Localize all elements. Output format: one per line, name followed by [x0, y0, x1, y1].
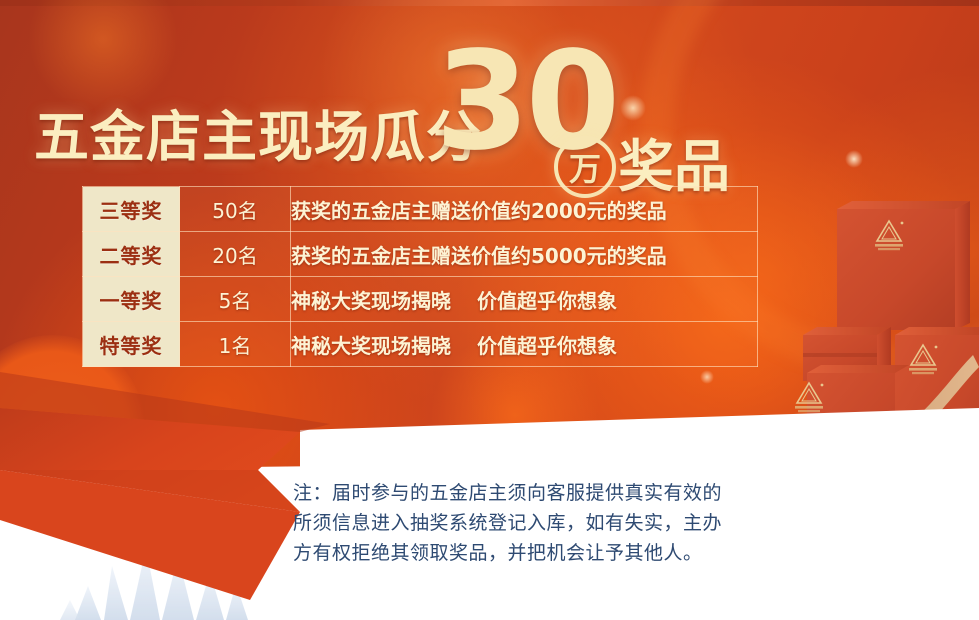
- headline-lead: 五金店主现场瓜分: [34, 92, 482, 172]
- top-stripe: [0, 0, 979, 6]
- prize-count: 20名: [180, 232, 291, 277]
- prize-description: 神秘大奖现场揭晓价值超乎你想象: [291, 322, 758, 367]
- gift-box-stack: [745, 185, 979, 515]
- prize-description-extra: 价值超乎你想象: [477, 334, 617, 358]
- table-row: 特等奖 1名 神秘大奖现场揭晓价值超乎你想象: [83, 322, 758, 367]
- prize-description: 获奖的五金店主赠送价值约5000元的奖品: [291, 232, 758, 277]
- note-line-1: 注：届时参与的五金店主须向客服提供真实有效的: [293, 478, 785, 508]
- prize-table: 三等奖 50名 获奖的五金店主赠送价值约2000元的奖品 二等奖 20名 获奖的…: [82, 186, 758, 367]
- prize-description: 神秘大奖现场揭晓价值超乎你想象: [291, 277, 758, 322]
- prize-grade: 三等奖: [83, 187, 180, 232]
- table-row: 一等奖 5名 神秘大奖现场揭晓价值超乎你想象: [83, 277, 758, 322]
- prize-count: 1名: [180, 322, 291, 367]
- prize-grade: 二等奖: [83, 232, 180, 277]
- prize-description-main: 神秘大奖现场揭晓: [291, 289, 451, 313]
- table-row: 三等奖 50名 获奖的五金店主赠送价值约2000元的奖品: [83, 187, 758, 232]
- background-sparkle: [845, 150, 863, 168]
- prize-description-extra: 价值超乎你想象: [477, 289, 617, 313]
- prize-description-main: 获奖的五金店主赠送价值约5000元的奖品: [291, 244, 667, 268]
- note-line-3: 方有权拒绝其领取奖品，并把机会让予其他人。: [293, 538, 785, 568]
- prize-count: 50名: [180, 187, 291, 232]
- gift-box-center: [795, 365, 909, 480]
- note-line-2: 所须信息进入抽奖系统登记入库，如有失实，主办: [293, 508, 785, 538]
- prize-grade: 一等奖: [83, 277, 180, 322]
- note-text: 注：届时参与的五金店主须向客服提供真实有效的 所须信息进入抽奖系统登记入库，如有…: [293, 478, 785, 568]
- prize-grade: 特等奖: [83, 322, 180, 367]
- prize-description: 获奖的五金店主赠送价值约2000元的奖品: [291, 187, 758, 232]
- gift-box-large: [837, 201, 970, 330]
- headline: 五金店主现场瓜分 30 万 奖品: [30, 40, 750, 165]
- prize-count: 5名: [180, 277, 291, 322]
- prize-description-main: 神秘大奖现场揭晓: [291, 334, 451, 358]
- prize-description-main: 获奖的五金店主赠送价值约2000元的奖品: [291, 199, 667, 223]
- starburst-decoration: [60, 548, 248, 620]
- background-sparkle: [700, 370, 714, 384]
- table-row: 二等奖 20名 获奖的五金店主赠送价值约5000元的奖品: [83, 232, 758, 277]
- promo-banner: 五金店主现场瓜分 30 万 奖品 三等奖 50名 获奖的五金店主赠送价值约200…: [0, 0, 979, 620]
